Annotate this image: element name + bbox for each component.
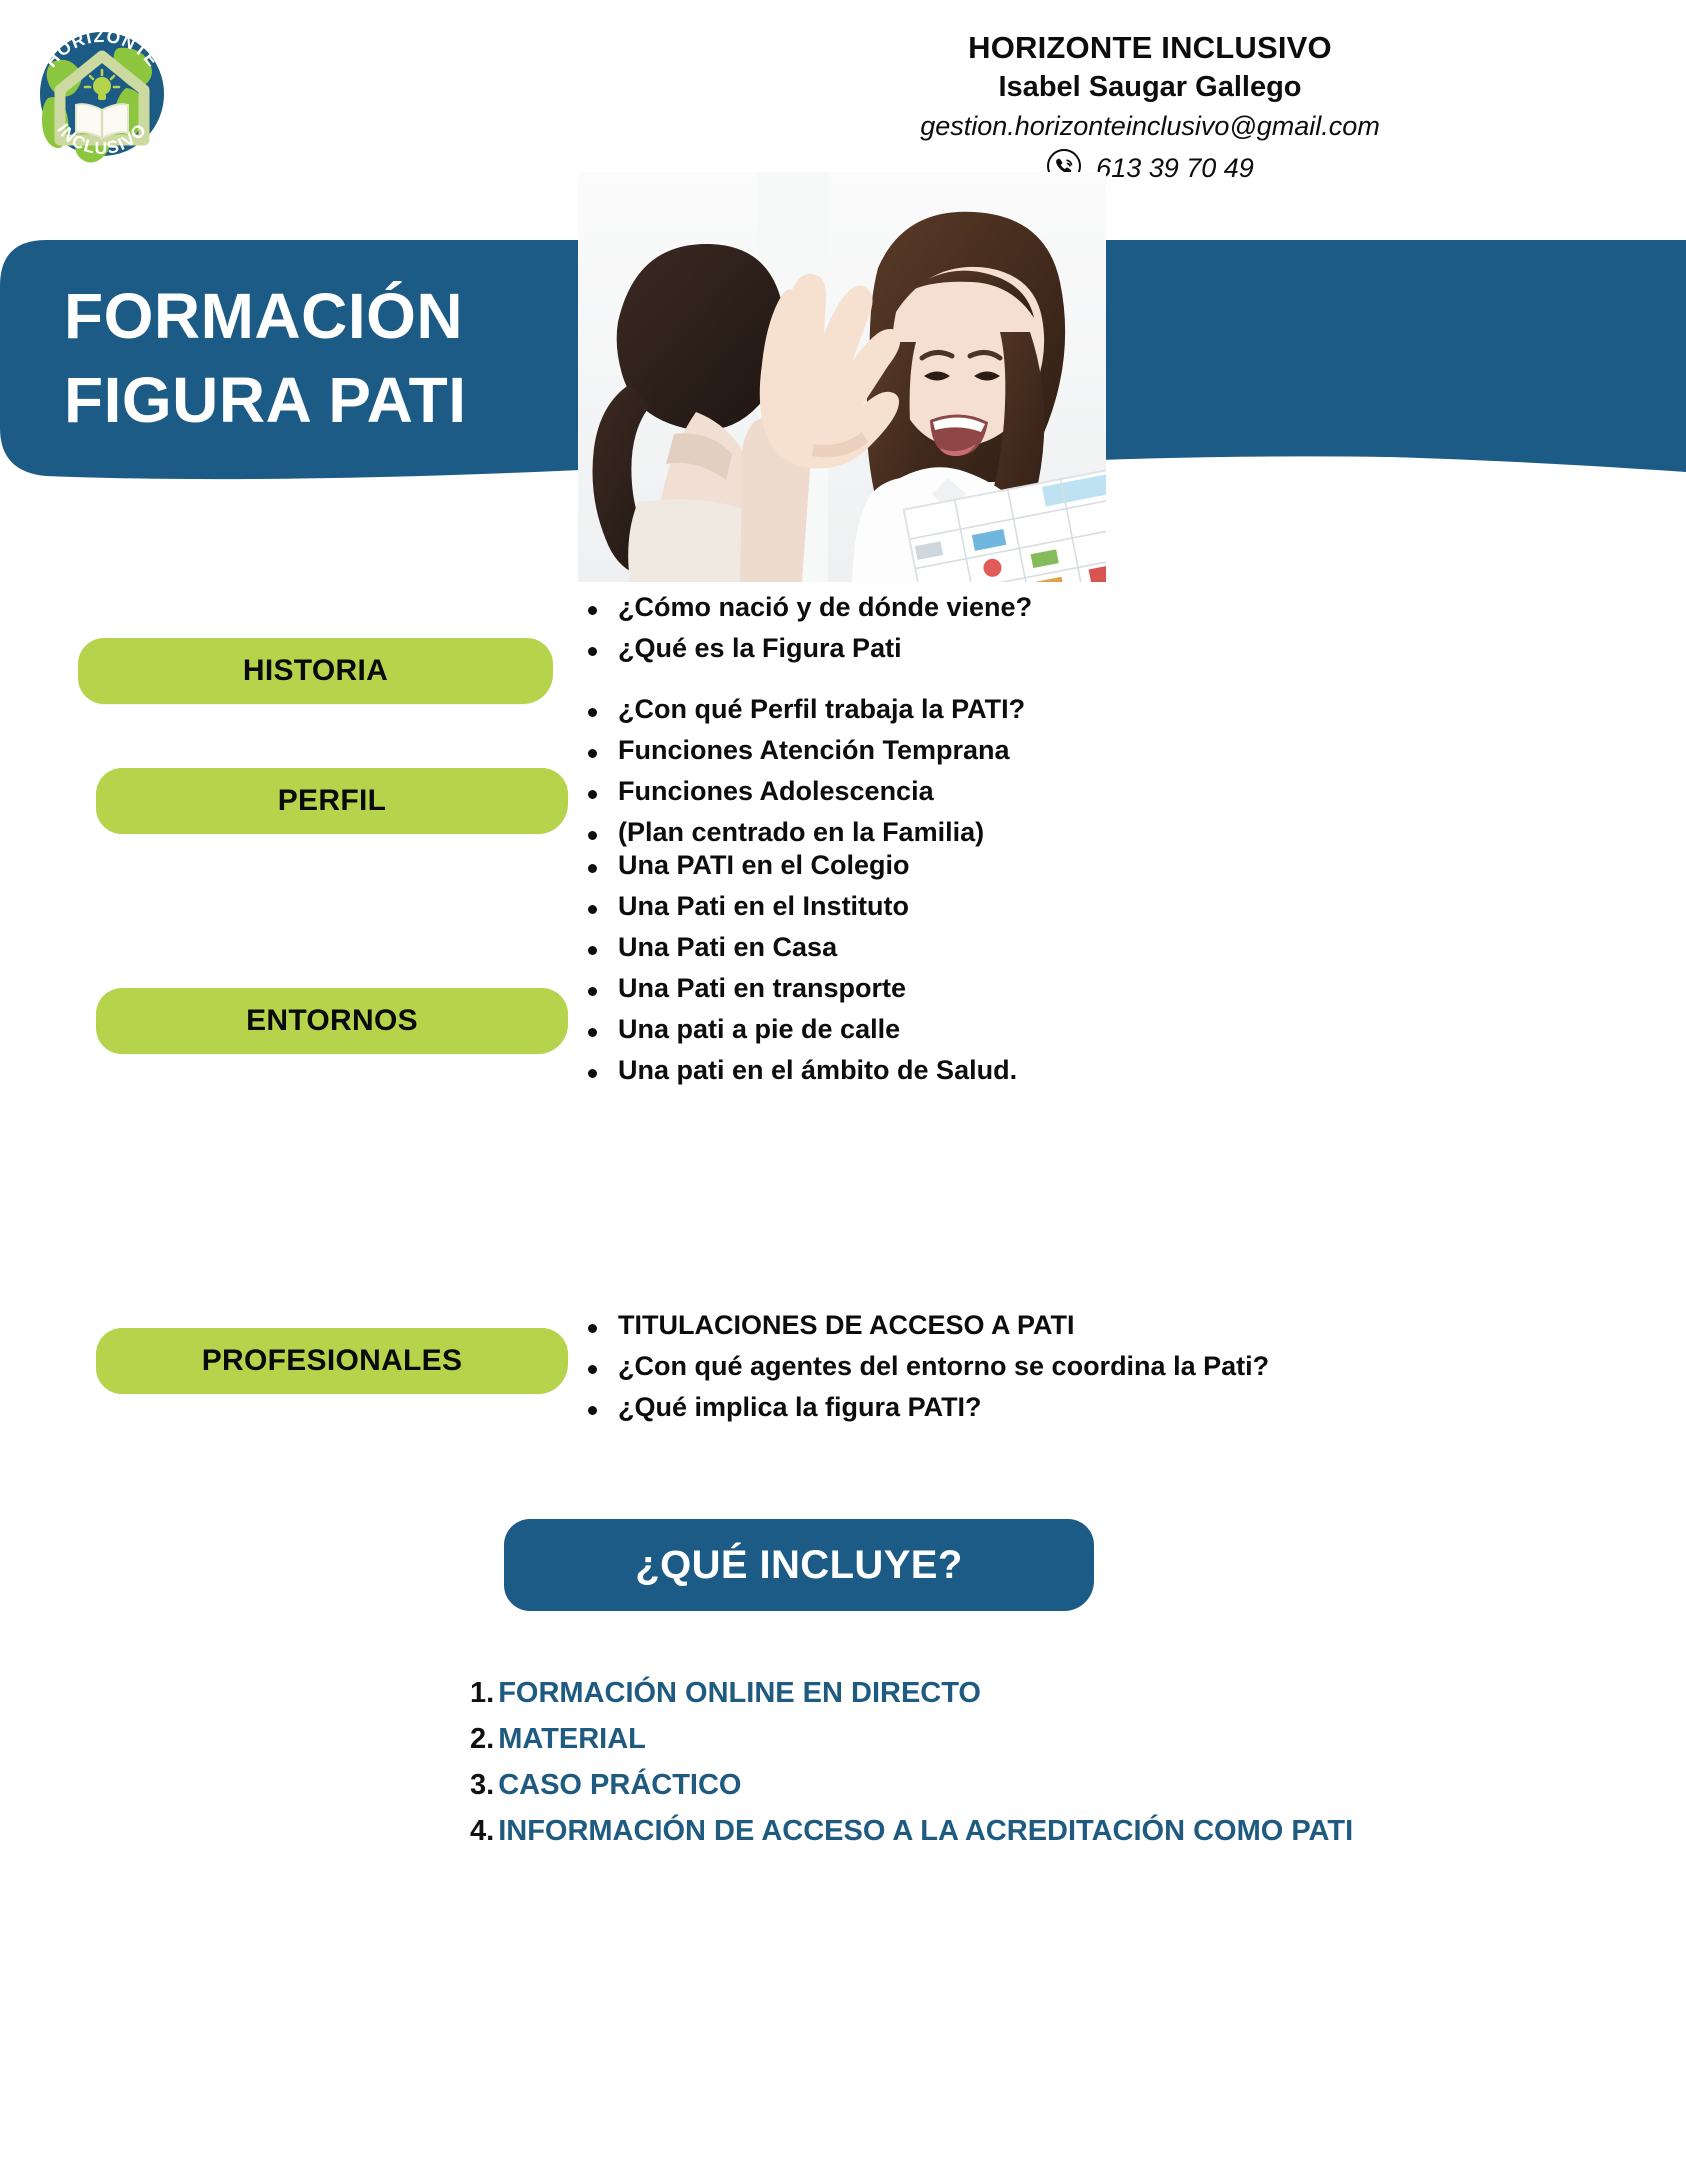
list-item-number: 2. — [470, 1724, 494, 1754]
list-item: 3. CASO PRÁCTICO — [470, 1770, 1353, 1800]
list-item: ¿Cómo nació y de dónde viene? — [580, 592, 1032, 622]
list-item: Una Pati en el Instituto — [580, 891, 1017, 921]
pill-label: ENTORNOS — [246, 1004, 418, 1038]
pill-label: HISTORIA — [243, 654, 388, 688]
pill-label: PROFESIONALES — [202, 1344, 463, 1378]
section-label-entornos[interactable]: ENTORNOS — [96, 988, 568, 1054]
page-title-line-1: FORMACIÓN — [64, 274, 764, 358]
pill-label: PERFIL — [278, 784, 386, 818]
list-item: Una pati a pie de calle — [580, 1014, 1017, 1044]
list-item: ¿Qué implica la figura PATI? — [580, 1392, 1269, 1422]
que-incluye-label: ¿QUÉ INCLUYE? — [635, 1543, 962, 1588]
list-item-text: INFORMACIÓN DE ACCESO A LA ACREDITACIÓN … — [498, 1816, 1353, 1846]
list-item: 4. INFORMACIÓN DE ACCESO A LA ACREDITACI… — [470, 1816, 1353, 1846]
contact-person-name: Isabel Saugar Gallego — [700, 69, 1600, 105]
list-item-text: CASO PRÁCTICO — [498, 1770, 741, 1800]
list-item-number: 3. — [470, 1770, 494, 1800]
list-item: ¿Qué es la Figura Pati — [580, 633, 1032, 663]
brand-logo: HORIZONTE INCLUSIVO — [22, 14, 182, 174]
list-item: ¿Con qué Perfil trabaja la PATI? — [580, 694, 1025, 724]
list-item: Funciones Adolescencia — [580, 776, 1025, 806]
contact-email[interactable]: gestion.horizonteinclusivo@gmail.com — [700, 109, 1600, 144]
page-title-line-2: FIGURA PATI — [64, 358, 764, 442]
section-label-profesionales[interactable]: PROFESIONALES — [96, 1328, 568, 1394]
list-item: Funciones Atención Temprana — [580, 735, 1025, 765]
list-item: ¿Con qué agentes del entorno se coordina… — [580, 1351, 1269, 1381]
list-item-text: MATERIAL — [498, 1724, 646, 1754]
includes-list: 1. FORMACIÓN ONLINE EN DIRECTO 2. MATERI… — [470, 1678, 1353, 1863]
list-item: Una PATI en el Colegio — [580, 850, 1017, 880]
list-item: TITULACIONES DE ACCESO A PATI — [580, 1310, 1269, 1340]
list-item: Una Pati en Casa — [580, 932, 1017, 962]
bullets-profesionales: TITULACIONES DE ACCESO A PATI ¿Con qué a… — [580, 1310, 1269, 1433]
hero-banner: FORMACIÓN FIGURA PATI — [0, 232, 1686, 572]
list-item: Una Pati en transporte — [580, 973, 1017, 1003]
list-item-text: FORMACIÓN ONLINE EN DIRECTO — [498, 1678, 981, 1708]
list-item-number: 1. — [470, 1678, 494, 1708]
bullets-historia: ¿Cómo nació y de dónde viene? ¿Qué es la… — [580, 592, 1032, 674]
list-item: (Plan centrado en la Familia) — [580, 817, 1025, 847]
list-item: Una pati en el ámbito de Salud. — [580, 1055, 1017, 1085]
list-item: 1. FORMACIÓN ONLINE EN DIRECTO — [470, 1678, 1353, 1708]
phone-number[interactable]: 613 39 70 49 — [1096, 153, 1254, 184]
contact-block: HORIZONTE INCLUSIVO Isabel Saugar Galleg… — [700, 30, 1600, 189]
list-item: 2. MATERIAL — [470, 1724, 1353, 1754]
page-title: FORMACIÓN FIGURA PATI — [64, 274, 764, 443]
bullets-perfil: ¿Con qué Perfil trabaja la PATI? Funcion… — [580, 694, 1025, 858]
section-label-perfil[interactable]: PERFIL — [96, 768, 568, 834]
bullets-entornos: Una PATI en el Colegio Una Pati en el In… — [580, 850, 1017, 1097]
list-item-number: 4. — [470, 1816, 494, 1846]
que-incluye-button[interactable]: ¿QUÉ INCLUYE? — [504, 1519, 1094, 1611]
organization-name: HORIZONTE INCLUSIVO — [700, 30, 1600, 67]
section-label-historia[interactable]: HISTORIA — [78, 638, 553, 704]
